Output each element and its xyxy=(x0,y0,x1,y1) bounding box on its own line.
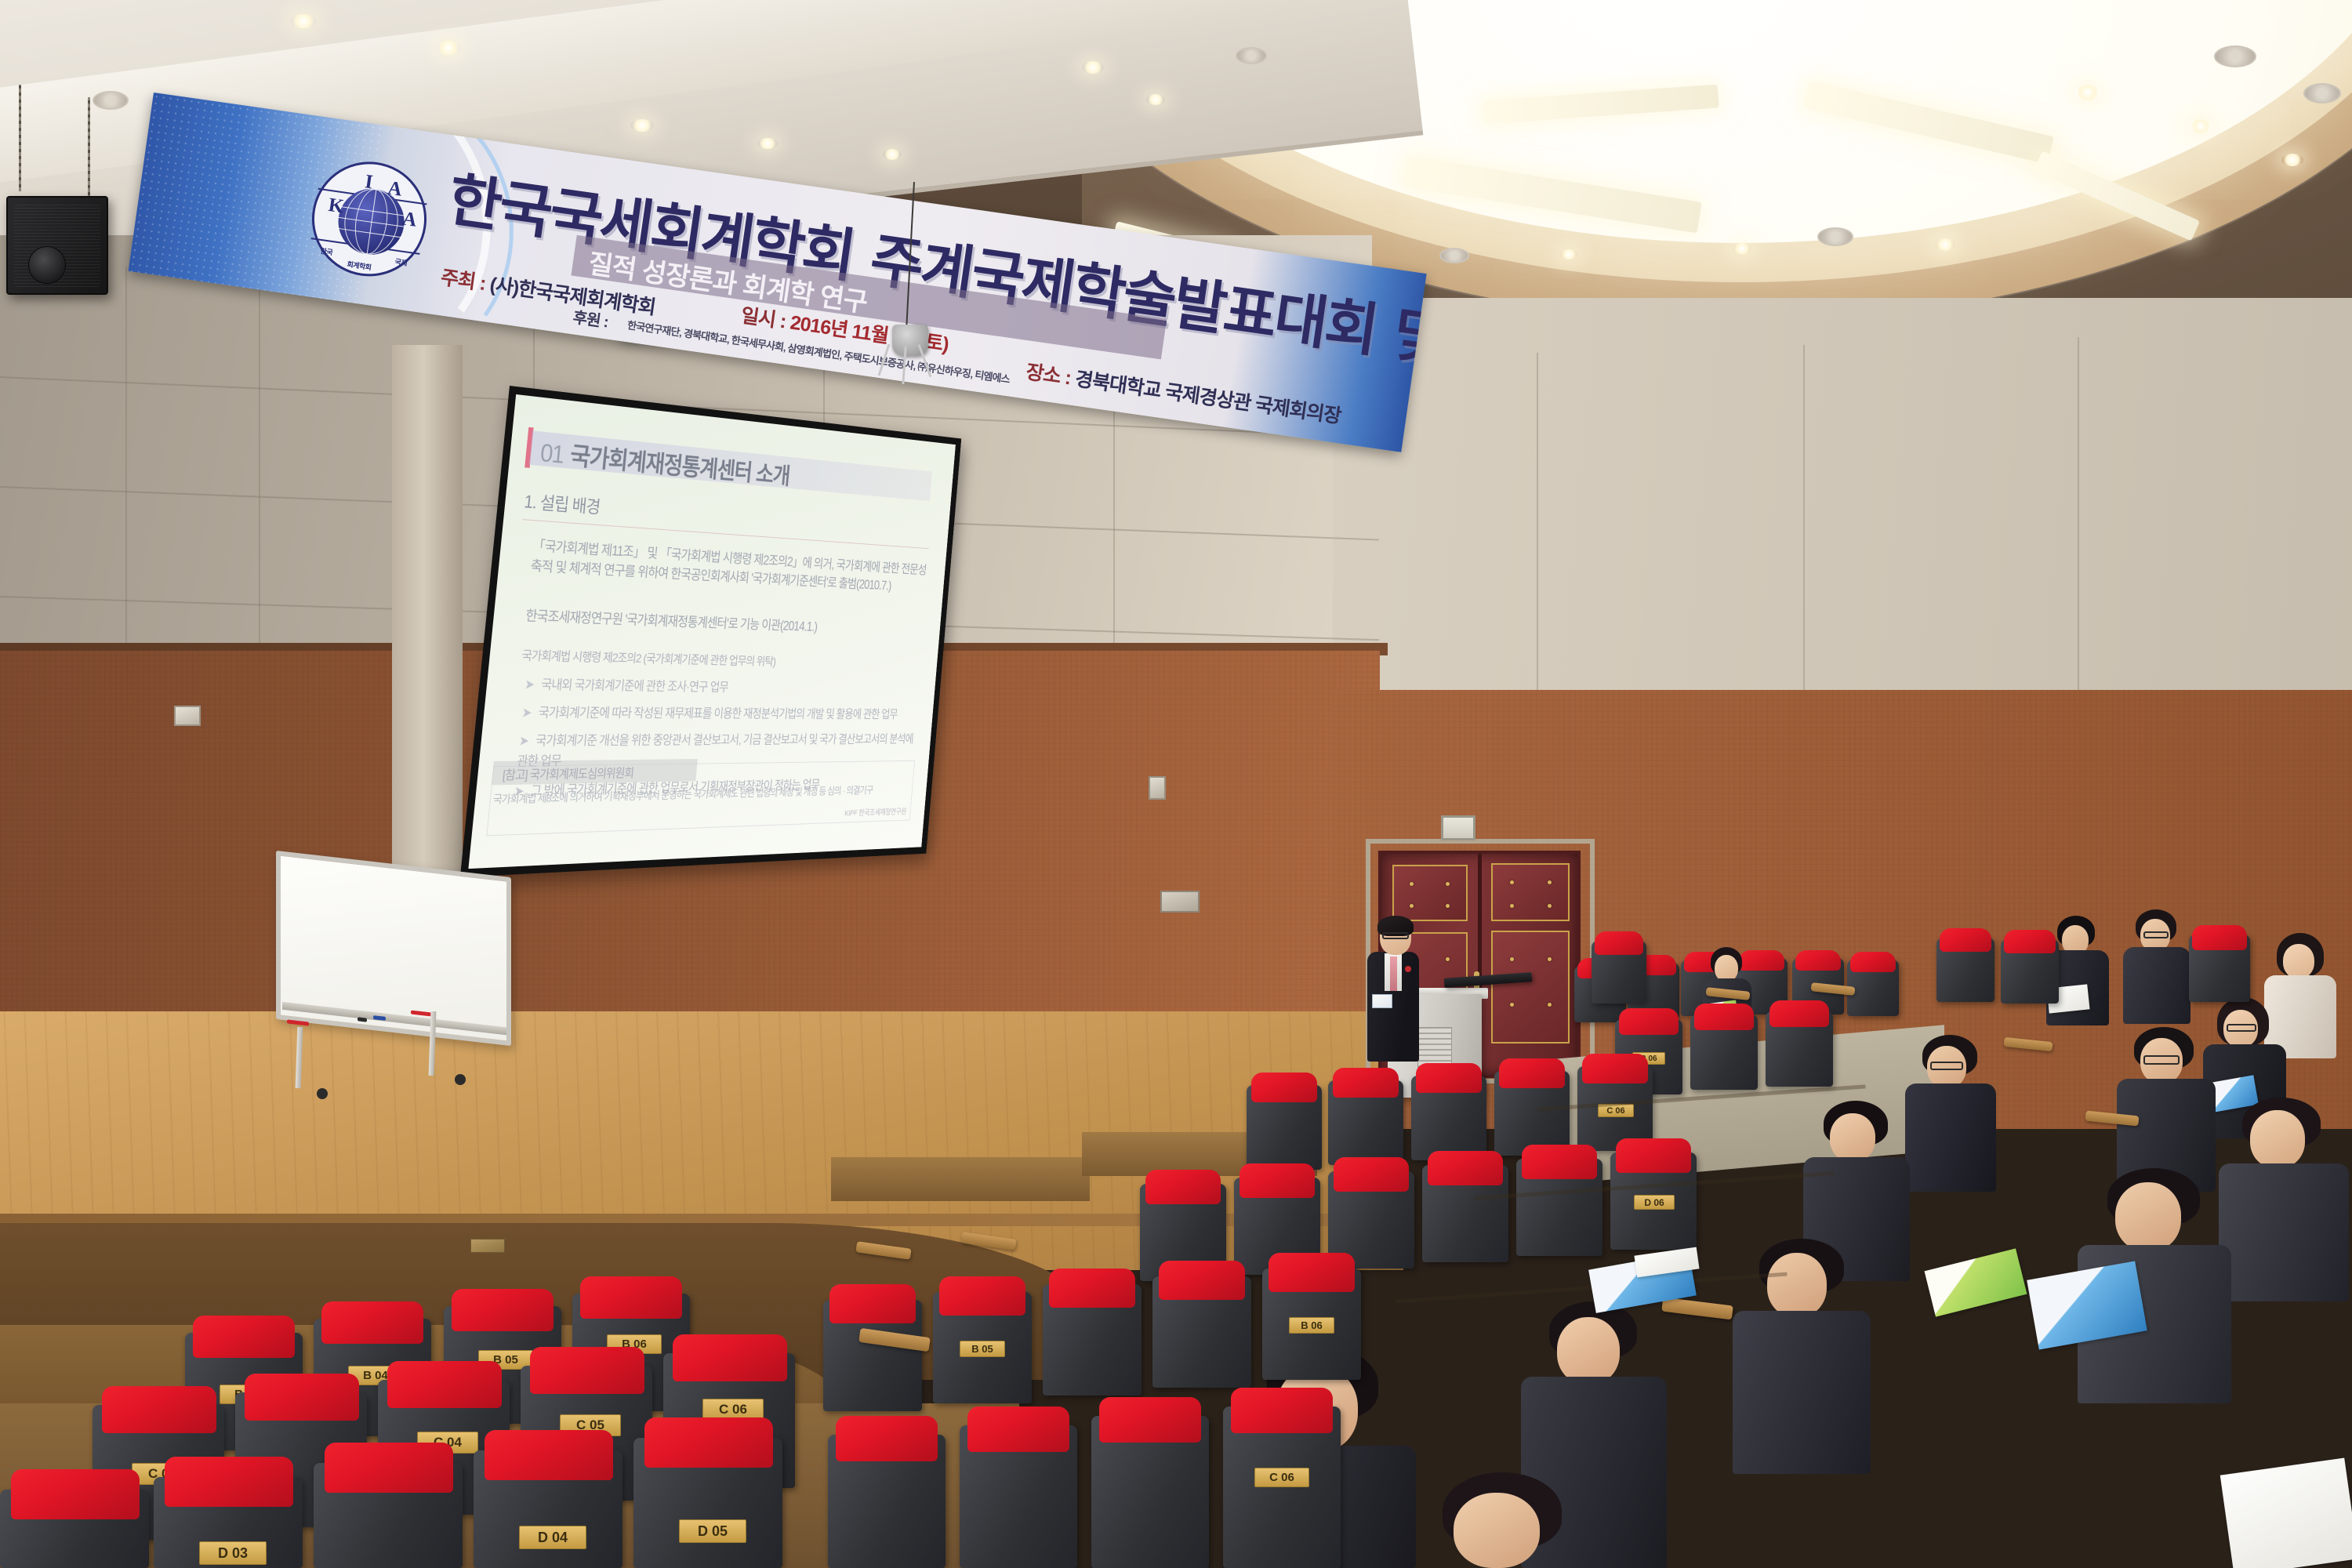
speaker-chain xyxy=(19,85,21,191)
presenter-glasses xyxy=(1382,932,1409,939)
seat[interactable] xyxy=(0,1490,149,1568)
ceiling-spotlight xyxy=(2189,119,2212,133)
stage-riser xyxy=(831,1157,1090,1201)
seat[interactable] xyxy=(314,1463,463,1568)
seat[interactable] xyxy=(828,1435,946,1568)
stage-floor-outlet xyxy=(470,1239,505,1253)
seat[interactable] xyxy=(1936,938,1994,1002)
wall-seam xyxy=(2078,337,2079,737)
audience-member xyxy=(1403,1472,1607,1568)
seat[interactable] xyxy=(960,1425,1077,1568)
seat[interactable]: C 06 xyxy=(1223,1406,1341,1568)
ceiling-spotlight xyxy=(630,119,654,132)
wall-outlet-plate xyxy=(174,706,201,726)
kiaa-letter-k: K xyxy=(327,194,345,218)
seat[interactable] xyxy=(1091,1416,1209,1568)
ceiling-spotlight xyxy=(436,41,461,55)
banner-date-label: 일시 : xyxy=(739,305,787,333)
whiteboard-caster xyxy=(317,1088,328,1099)
slide-subheading: 1. 설립 배경 xyxy=(523,486,601,518)
handout-paper xyxy=(2220,1457,2352,1568)
audience-member xyxy=(2117,1027,2219,1192)
seat[interactable]: D 03 xyxy=(154,1477,303,1568)
wall-upper-right xyxy=(1333,298,2352,737)
arrow-bullet-icon: ➤ xyxy=(521,706,532,720)
wall-outlet-plate xyxy=(1149,776,1166,800)
ceiling-vent-icon xyxy=(1817,227,1853,246)
audience-member xyxy=(2078,1168,2234,1403)
presenter-tie xyxy=(1390,956,1397,991)
presenter-name-badge xyxy=(1372,994,1392,1008)
door-panel xyxy=(1491,931,1570,1044)
wall-control-panel xyxy=(1160,891,1200,913)
ceiling-spotlight xyxy=(2074,85,2101,100)
ceiling-speaker-left xyxy=(6,196,108,295)
seat-plate: D 05 xyxy=(679,1519,746,1543)
banner-sponsor-label: 후원 : xyxy=(572,304,610,332)
seat[interactable] xyxy=(823,1300,922,1411)
slide-heading-text: 국가회계재정통계센터 소개 xyxy=(569,441,791,488)
wall-seam xyxy=(1537,353,1538,721)
kiaa-sub-right: 국제 xyxy=(394,256,408,268)
kiaa-letter-a1: A xyxy=(387,177,404,201)
exit-sign xyxy=(1441,815,1475,840)
seat[interactable] xyxy=(1152,1276,1251,1388)
ceiling-vent-icon xyxy=(1236,47,1267,64)
seat[interactable] xyxy=(1516,1159,1602,1256)
presenter-lapel-pin xyxy=(1405,966,1411,972)
ceiling-vent-icon xyxy=(2303,83,2341,103)
seat[interactable] xyxy=(1690,1014,1758,1090)
seat[interactable] xyxy=(1494,1071,1570,1156)
arrow-bullet-icon: ➤ xyxy=(518,734,529,749)
slide-note: 국가회계법 시행령 제2조의2 (국가회계기준에 관한 업무의 위탁) xyxy=(521,644,919,672)
seat[interactable] xyxy=(2189,935,2250,1002)
seat[interactable] xyxy=(1411,1076,1486,1160)
seat[interactable]: B 06 xyxy=(1262,1269,1361,1380)
seat-plate: D 03 xyxy=(199,1541,267,1565)
kiaa-sub-left: 한국 xyxy=(320,245,333,257)
slide-heading: 01국가회계재정통계센터 소개 xyxy=(539,434,791,492)
seat[interactable] xyxy=(1328,1080,1403,1165)
ceiling-vent-icon xyxy=(1439,248,1469,263)
seat[interactable] xyxy=(1847,960,1899,1016)
arrow-bullet-icon: ➤ xyxy=(524,677,535,692)
slide-section-number: 01 xyxy=(539,438,565,468)
audience-member xyxy=(2227,1435,2352,1568)
ceiling-spotlight xyxy=(757,138,778,149)
whiteboard-leg xyxy=(296,1027,303,1088)
ceiling-spotlight xyxy=(1560,249,1577,260)
seat[interactable] xyxy=(1422,1165,1508,1262)
ceiling-spotlight xyxy=(1733,243,1751,254)
whiteboard-caster xyxy=(455,1074,466,1085)
banner-host-label: 주최 : xyxy=(439,267,487,295)
audience-member xyxy=(1905,1035,1999,1192)
ceiling-spotlight xyxy=(290,14,317,28)
slide-brand-logo: KIPF 한국조세재정연구원 xyxy=(844,805,907,818)
speaker-woofer xyxy=(28,246,66,284)
door-panel xyxy=(1392,865,1468,921)
ceiling-vent-icon xyxy=(2214,45,2256,67)
seat[interactable] xyxy=(1247,1085,1322,1170)
seat[interactable] xyxy=(2001,939,2059,1004)
ceiling-spotlight xyxy=(1146,94,1165,105)
presenter xyxy=(1364,916,1425,1065)
seat[interactable]: D 05 xyxy=(633,1438,782,1568)
wall-seam xyxy=(125,267,127,659)
slide-paragraph-1: 「국가회계법 제11조」 및 「국가회계법 시행령 제2조의2」에 의거, 국가… xyxy=(530,535,928,597)
banner-place-label: 장소 : xyxy=(1025,361,1073,390)
program-booklet xyxy=(1925,1248,2027,1316)
projection-screen: 01국가회계재정통계센터 소개 1. 설립 배경 「국가회계법 제11조」 및 … xyxy=(460,386,961,877)
slide-bullet-1: ➤국내외 국가회계기준에 관한 조사·연구 업무 xyxy=(524,675,920,699)
hanging-microphone xyxy=(892,325,928,356)
ceiling-spotlight xyxy=(883,149,902,160)
kiaa-sub-bottom: 회계학회 xyxy=(347,259,372,272)
slide-bullet-2: ➤국가회계기준에 따라 작성된 재무제표를 이용한 재정분석기법의 개발 및 활… xyxy=(521,703,917,724)
seat[interactable]: B 05 xyxy=(933,1292,1032,1403)
seat-plate: D 04 xyxy=(519,1526,586,1549)
seat[interactable]: D 04 xyxy=(474,1450,622,1568)
audience-member xyxy=(2219,1098,2352,1301)
slide-paragraph-2: 한국조세재정연구원 '국가회계재정통계센터'로 기능 이관(2014.1.) xyxy=(524,606,922,641)
speaker-chain xyxy=(88,97,90,199)
kiaa-letter-a2: A xyxy=(401,208,418,231)
auditorium-photo: K I A A 한국 국제 회계학회 한국국세회계학회 주계국제학술발표대회 및… xyxy=(0,0,2352,1568)
whiteboard-leg xyxy=(429,1011,437,1076)
seat[interactable] xyxy=(1766,1011,1833,1087)
seat[interactable] xyxy=(1043,1284,1142,1396)
seat[interactable]: D 06 xyxy=(1610,1152,1697,1250)
ceiling-spotlight xyxy=(1935,238,1955,251)
wall-seam xyxy=(259,282,260,666)
audience-member xyxy=(2123,909,2194,1024)
ceiling-spotlight xyxy=(2281,154,2303,166)
ceiling-spotlight xyxy=(1082,61,1104,74)
wall-seam xyxy=(1803,345,1805,729)
ceiling-vent-icon xyxy=(93,91,129,110)
mobile-whiteboard[interactable] xyxy=(276,864,511,1088)
door-panel xyxy=(1491,863,1570,921)
seat[interactable] xyxy=(1592,941,1646,1004)
seat-armrest xyxy=(1661,1298,1733,1320)
